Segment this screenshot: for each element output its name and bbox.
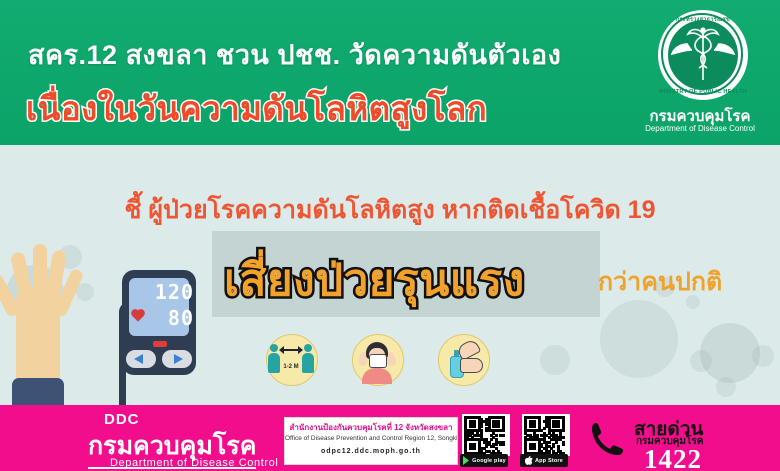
chevron-left-icon: [134, 354, 143, 364]
monitor-right-button[interactable]: [162, 350, 192, 368]
chevron-right-icon: [174, 354, 183, 364]
qr-code-google-play[interactable]: [462, 414, 510, 456]
mask-person-body: [362, 368, 392, 384]
office-name-thai: สำนักงานป้องกันควบคุมโรคที่ 12 จังหวัดสง…: [285, 421, 457, 434]
sleeve-cuff: [12, 378, 64, 405]
logo-org-english: Department of Disease Control: [636, 124, 764, 133]
bg-virus-spike-a: [690, 350, 712, 372]
bg-virus-spike-c: [716, 377, 736, 397]
phone-icon: [588, 420, 628, 460]
highlight-text: เสี่ยงป่วยรุนแรง: [224, 245, 525, 315]
monitor-left-button[interactable]: [126, 350, 156, 368]
systolic-reading: 120: [155, 282, 194, 302]
header-banner: สคร.12 สงขลา ชวน ปชช. วัดความดันตัวเอง เ…: [0, 0, 780, 145]
regional-office-box: สำนักงานป้องกันควบคุมโรคที่ 12 จังหวัดสง…: [284, 417, 458, 465]
main-content: 120 80 ชี้ ผู้ป่วยโรคความดันโลหิตสูง หาก…: [0, 145, 780, 405]
qr-code-group: Google play App Store: [462, 414, 570, 466]
google-play-badge[interactable]: Google play: [460, 454, 508, 467]
person-head: [304, 344, 312, 352]
main-headline: ชี้ ผู้ป่วยโรคความดันโลหิตสูง หากติดเชื้…: [0, 190, 780, 230]
poster-canvas: สคร.12 สงขลา ชวน ปชช. วัดความดันตัวเอง เ…: [0, 0, 780, 471]
diastolic-reading: 80: [168, 308, 194, 328]
highlight-tail-text: กว่าคนปกติ: [598, 262, 722, 302]
person-head: [270, 344, 278, 352]
distance-label: 1-2 M: [276, 364, 306, 370]
app-store-badge[interactable]: App Store: [520, 454, 568, 467]
hotline-block: สายด่วน กรมควบคุมโรค 1422: [588, 412, 768, 468]
bg-virus-spike-b: [752, 345, 774, 367]
bg-blob-large: [600, 300, 678, 378]
wear-mask-icon: [348, 330, 406, 388]
bg-blob-mid: [540, 345, 570, 375]
office-website-url: odpc12.ddc.moph.go.th: [285, 448, 457, 455]
office-name-english: Office of Disease Prevention and Control…: [285, 435, 457, 442]
hotline-number: 1422: [644, 444, 702, 471]
open-hand-graphic: [0, 240, 97, 405]
header-headline-1: สคร.12 สงขลา ชวน ปชช. วัดความดันตัวเอง: [28, 33, 561, 76]
blood-pressure-monitor: 120 80: [118, 240, 200, 405]
play-triangle-icon: [462, 456, 470, 465]
apple-icon: [525, 456, 533, 465]
moph-logo: กระทรวงสาธารณสุข MINISTRY OF PUBLIC HEAL…: [636, 8, 764, 140]
palm: [16, 288, 60, 388]
sanitizer-hand-lower: [460, 358, 483, 373]
monitor-indicator-bar: [153, 341, 167, 347]
ddc-logo-block: DDC กรมควบคุมโรค Department of Disease C…: [88, 411, 288, 467]
ddc-name-english: Department of Disease Control: [110, 457, 278, 469]
seal-text-english: MINISTRY OF PUBLIC HEALTH: [658, 89, 748, 95]
person-torso: [302, 353, 314, 373]
app-store-label: App Store: [535, 458, 563, 464]
distance-arrow-icon: [283, 349, 299, 351]
google-play-label: Google play: [472, 458, 506, 464]
seal-text-thai: กระทรวงสาธารณสุข: [658, 16, 748, 24]
person-torso: [268, 353, 280, 373]
face-mask: [369, 354, 387, 368]
header-headline-2: เนื่องในวันความดันโลหิตสูงโลก: [26, 82, 487, 135]
qr-code-app-store[interactable]: [522, 414, 570, 456]
prevention-icons-row: 1-2 M: [262, 330, 492, 392]
social-distancing-icon: 1-2 M: [262, 330, 320, 388]
moph-seal-icon: กระทรวงสาธารณสุข MINISTRY OF PUBLIC HEAL…: [658, 10, 748, 100]
hand-sanitizer-icon: [434, 330, 492, 388]
